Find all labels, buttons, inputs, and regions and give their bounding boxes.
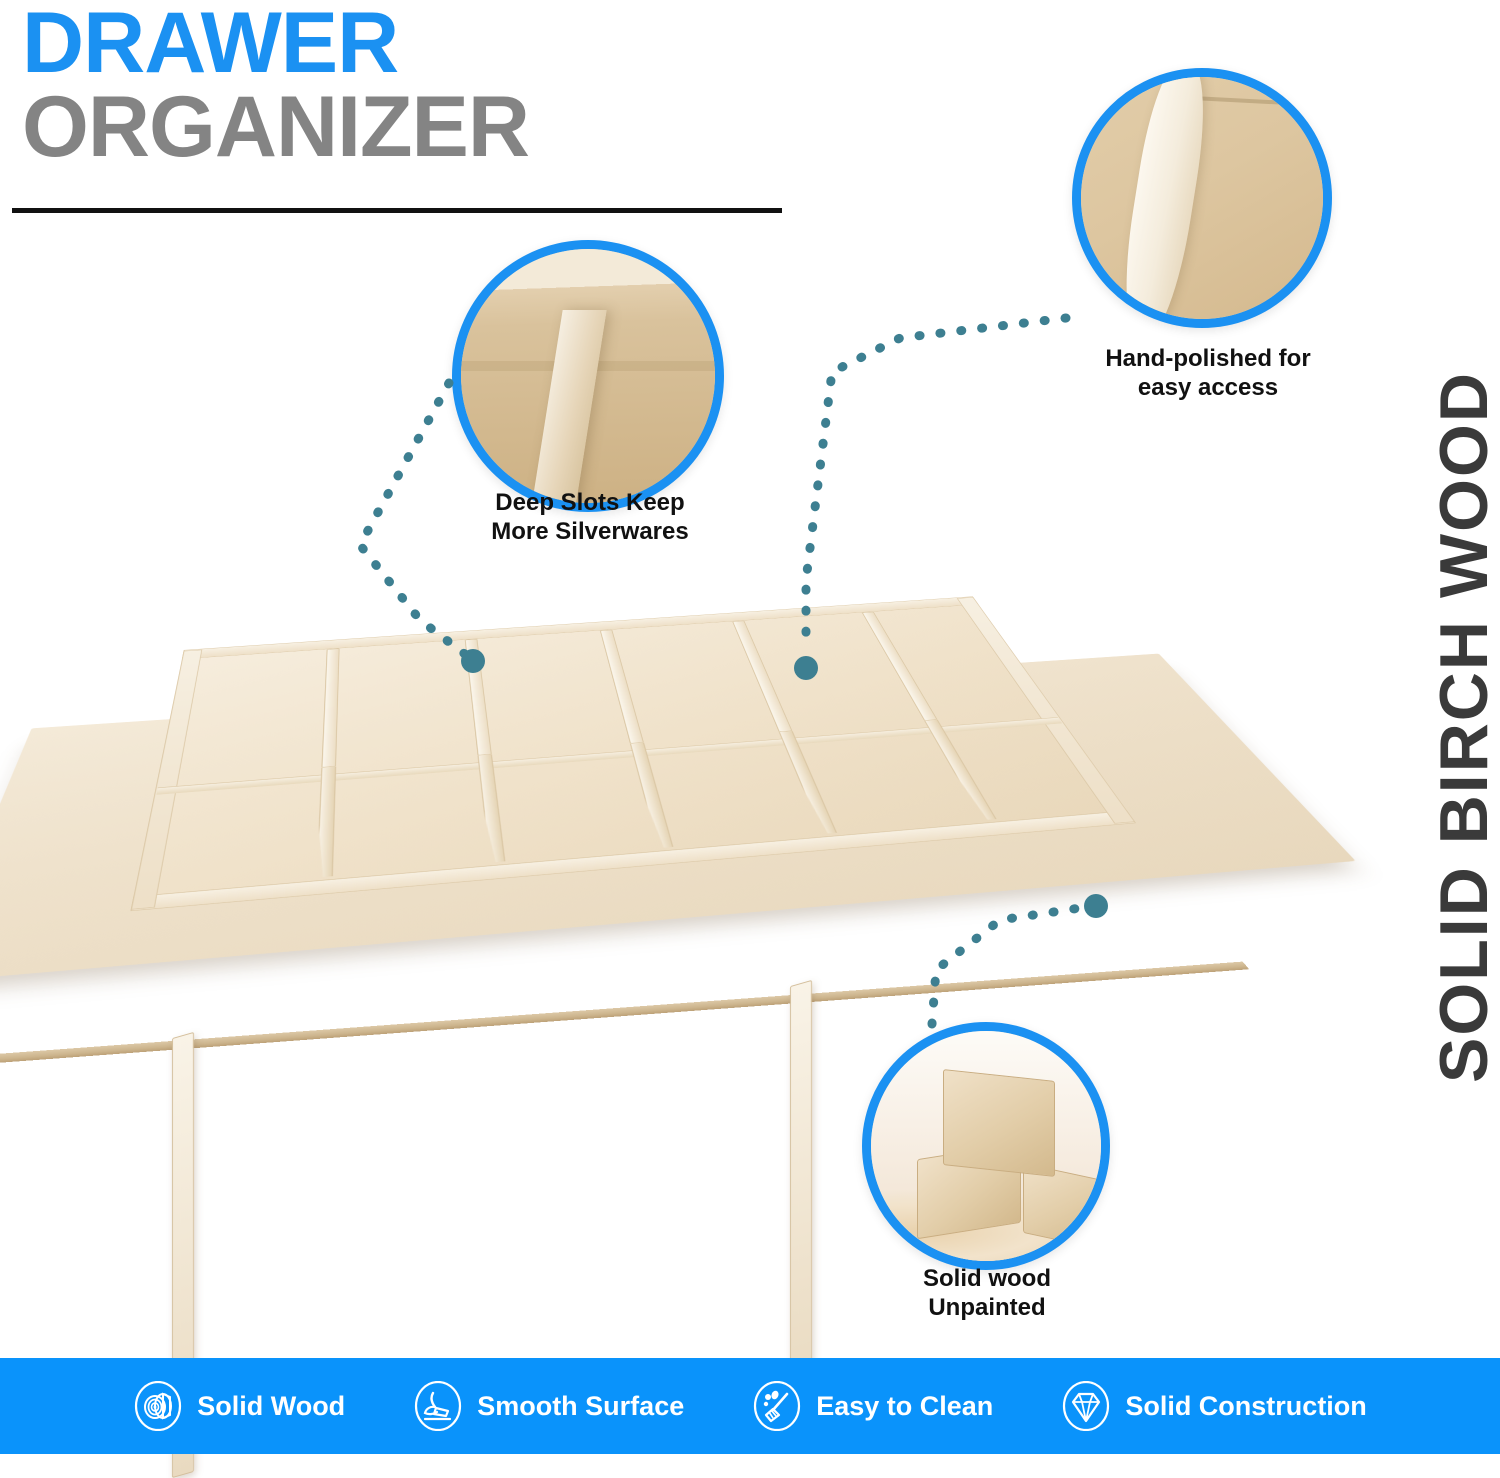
feature-label: Solid Wood (197, 1391, 345, 1422)
smooth-hand-icon (413, 1381, 463, 1431)
callout-label-solid-wood: Solid wood Unpainted (852, 1264, 1122, 1323)
wood-block-shape (943, 1069, 1055, 1177)
feature-item-solid-wood: Solid Wood (99, 1381, 379, 1431)
feature-item-solid-construction: Solid Construction (1027, 1381, 1400, 1431)
title-line-drawer: DRAWER (22, 2, 802, 85)
callout-image-hand-polished (1081, 77, 1323, 319)
tray-corner-post-right (790, 980, 812, 1406)
wood-divider-shape (531, 310, 606, 508)
title-line-organizer: ORGANIZER (22, 85, 802, 169)
diamond-icon (1061, 1381, 1111, 1431)
callout-label-hand-polished: Hand-polished for easy access (1058, 344, 1358, 403)
feature-label: Smooth Surface (477, 1391, 684, 1422)
title-divider-rule (12, 208, 782, 213)
polished-wave-edge-shape (1114, 68, 1215, 328)
callout-image-deep-slots (461, 249, 715, 503)
side-banner-text: SOLID BIRCH WOOD (1425, 197, 1500, 1257)
wood-log-icon (133, 1381, 183, 1431)
feature-item-easy-to-clean: Easy to Clean (718, 1381, 1027, 1431)
feature-label: Easy to Clean (816, 1391, 993, 1422)
broom-icon (752, 1381, 802, 1431)
feature-item-smooth-surface: Smooth Surface (379, 1381, 718, 1431)
callout-label-deep-slots: Deep Slots Keep More Silverwares (410, 488, 770, 547)
feature-bar: Solid Wood Smooth Surface Easy to Clean (0, 1358, 1500, 1454)
product-image (0, 505, 1300, 1125)
callout-image-solid-wood (871, 1031, 1101, 1261)
page-title: DRAWER ORGANIZER (22, 2, 802, 169)
feature-label: Solid Construction (1125, 1391, 1366, 1422)
callout-circle-solid-wood (862, 1022, 1110, 1270)
callout-circle-hand-polished (1072, 68, 1332, 328)
callout-circle-deep-slots (452, 240, 724, 512)
